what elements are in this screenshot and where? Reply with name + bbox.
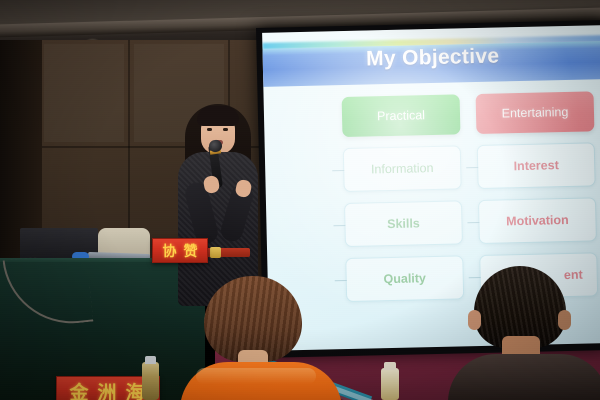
presenter-eye-right — [223, 128, 228, 131]
bottle-cap-center — [384, 362, 396, 370]
presenter — [176, 96, 262, 306]
sub-box-label: Interest — [513, 158, 558, 173]
connector-line — [466, 166, 478, 167]
presenter-fringe — [197, 106, 239, 126]
audience-member-right — [452, 266, 600, 400]
presenter-eye-left — [207, 128, 212, 131]
connector-line — [467, 221, 479, 222]
placard-char: 赞 — [184, 241, 198, 261]
sub-box-quality: Quality — [345, 255, 464, 302]
bottle-center — [381, 368, 399, 400]
audience-right-ear-right — [558, 310, 571, 330]
placard-char: 洲 — [97, 378, 118, 400]
connector-line — [333, 225, 345, 226]
sub-box-motivation: Motivation — [478, 197, 597, 244]
connector-line — [335, 280, 347, 281]
placard-char: 协 — [163, 241, 177, 261]
placard-char: 金 — [69, 378, 90, 400]
wall-panel — [44, 44, 124, 142]
bottle-left — [142, 362, 159, 400]
conference-room-photo: My Objective Practical Information Skill… — [0, 0, 600, 400]
audience-member-left — [186, 276, 336, 400]
sub-box-label: Motivation — [506, 213, 569, 228]
column-practical: Practical Information Skills Quality — [342, 94, 465, 302]
audience-right-ear-left — [468, 310, 481, 330]
audience-right-shirt — [448, 354, 600, 400]
sub-box-label: Information — [371, 161, 434, 176]
sub-box-label: Skills — [387, 216, 420, 231]
head-box-entertaining: Entertaining — [476, 91, 595, 134]
sub-box-interest: Interest — [477, 142, 596, 189]
presenter-belt-buckle — [210, 247, 221, 258]
connector-line — [332, 170, 344, 171]
placard-top: 协 赞 — [152, 238, 208, 263]
sub-box-information: Information — [343, 145, 462, 192]
sub-box-label: Quality — [383, 271, 426, 286]
audience-left-highlight — [196, 368, 316, 384]
bottle-cap-left — [145, 356, 156, 364]
head-box-practical: Practical — [342, 94, 461, 137]
sub-box-skills: Skills — [344, 200, 463, 247]
